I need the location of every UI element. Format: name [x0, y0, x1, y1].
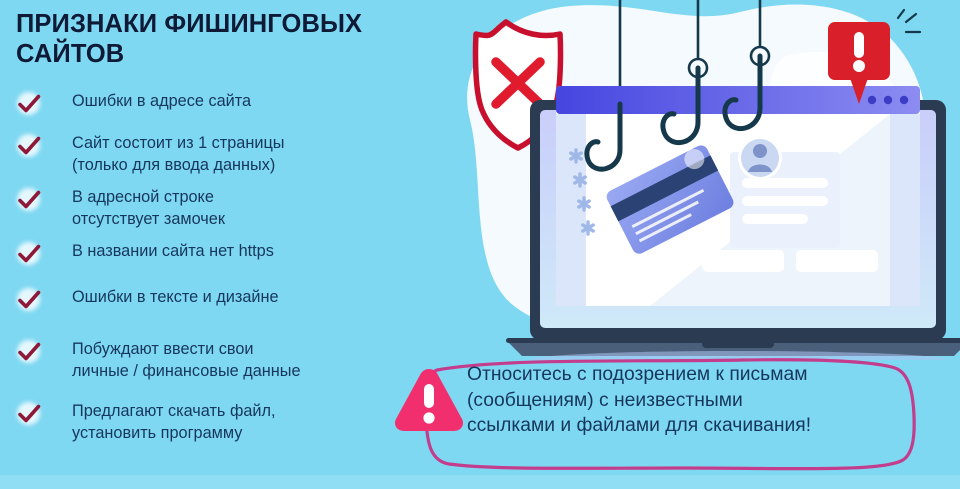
list-item: В адресной строке отсутствует замочек: [0, 184, 420, 230]
check-icon: [14, 185, 44, 215]
list-item: Ошибки в тексте и дизайне: [0, 284, 420, 315]
check-icon: [14, 239, 44, 269]
left-panel: ПРИЗНАКИ ФИШИНГОВЫХ САЙТОВ Ошибки в адре…: [0, 0, 430, 489]
phishing-illustration: [430, 0, 960, 360]
list-item-label: Ошибки в тексте и дизайне: [72, 284, 279, 309]
check-icon: [14, 285, 44, 315]
bottom-strip: [0, 475, 960, 489]
list-item-label: Побуждают ввести свои личные / финансовы…: [72, 336, 301, 382]
callout-message: Относитесь с подозрением к письмам (сооб…: [467, 362, 919, 439]
user-avatar-icon: [738, 136, 782, 180]
list-item-label: Сайт состоит из 1 страницы (только для в…: [72, 130, 284, 176]
list-item-label: Ошибки в адресе сайта: [72, 88, 251, 113]
list-item: Сайт состоит из 1 страницы (только для в…: [0, 130, 420, 176]
list-item-label: В адресной строке отсутствует замочек: [72, 184, 225, 230]
list-item-label: В названии сайта нет https: [72, 238, 274, 263]
alert-spark-lines: [898, 10, 920, 32]
warning-triangle-icon: [391, 362, 467, 436]
check-icon: [14, 399, 44, 429]
page-buttons: [608, 250, 878, 272]
list-item-label: Предлагают скачать файл, установить прог…: [72, 398, 276, 444]
list-item: Побуждают ввести свои личные / финансовы…: [0, 336, 420, 382]
page-title: ПРИЗНАКИ ФИШИНГОВЫХ САЙТОВ: [16, 10, 416, 69]
phishing-infographic: ПРИЗНАКИ ФИШИНГОВЫХ САЙТОВ Ошибки в адре…: [0, 0, 960, 489]
list-item: Ошибки в адресе сайта: [0, 88, 420, 119]
list-item: В названии сайта нет https: [0, 238, 420, 269]
warning-callout: Относитесь с подозрением к письмам (сооб…: [383, 348, 928, 476]
check-icon: [14, 337, 44, 367]
check-icon: [14, 131, 44, 161]
list-item: Предлагают скачать файл, установить прог…: [0, 398, 420, 444]
check-icon: [14, 89, 44, 119]
